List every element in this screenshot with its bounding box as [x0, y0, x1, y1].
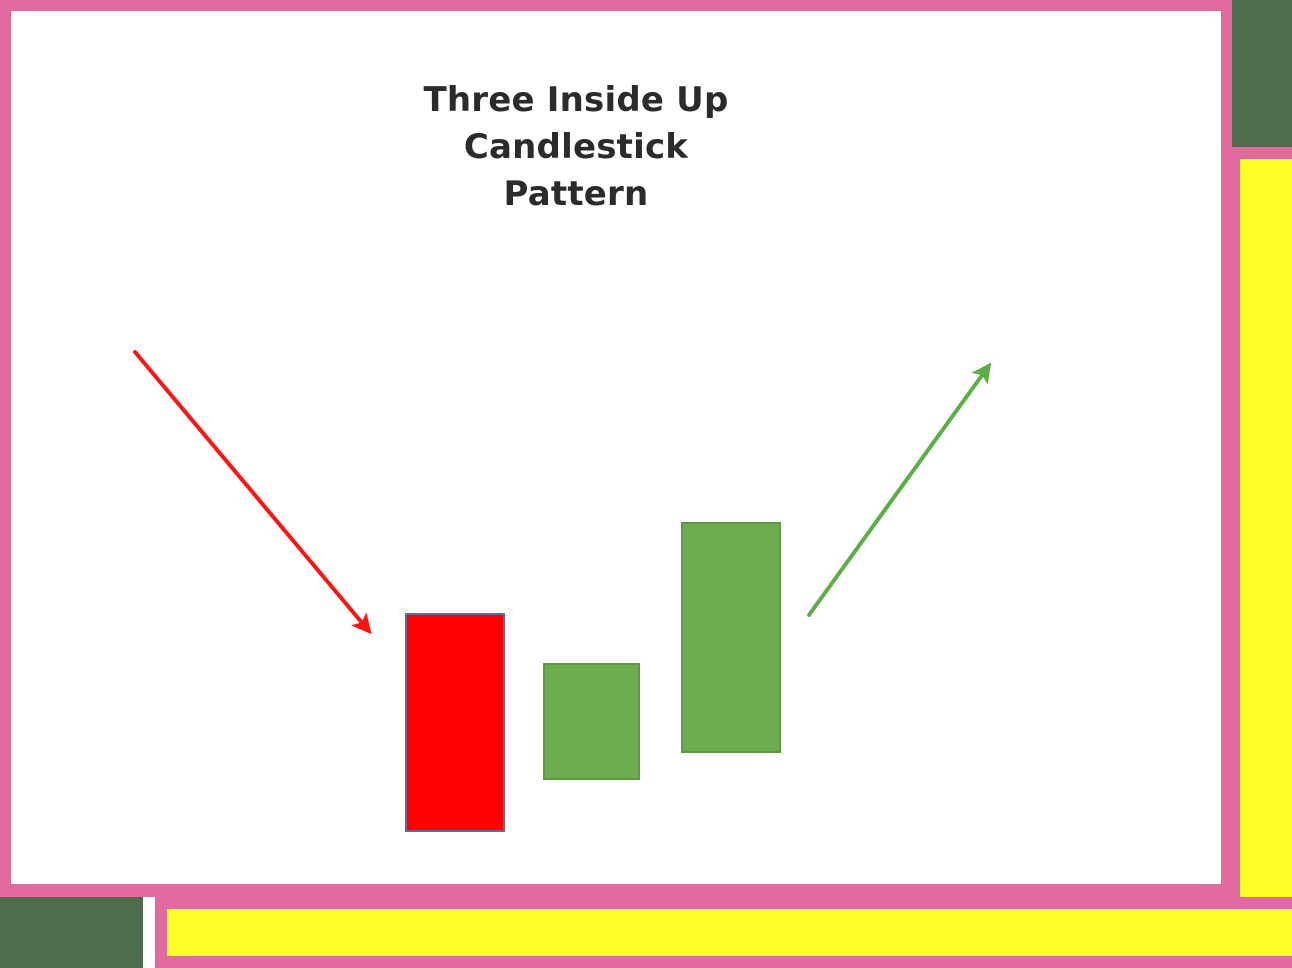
candle-body-1 — [405, 613, 505, 832]
decor-yellow-panel-right — [1228, 147, 1292, 968]
decor-yellow-panel-bottom — [155, 897, 1292, 968]
pink-card-frame: Three Inside Up Candlestick Pattern — [0, 0, 1232, 897]
decor-green-block-topright — [1231, 0, 1292, 147]
page-title: Three Inside Up Candlestick Pattern — [11, 77, 1141, 218]
uptrend-arrow — [809, 367, 988, 615]
illustration-card: Three Inside Up Candlestick Pattern — [11, 11, 1221, 884]
candle-body-3 — [681, 522, 781, 753]
downtrend-arrow — [135, 352, 368, 630]
candle-body-2 — [543, 663, 640, 780]
decor-green-block-bottomleft — [0, 897, 143, 968]
page-title-line-3: Pattern — [11, 171, 1141, 218]
screenshot-canvas: Three Inside Up Candlestick Pattern — [0, 0, 1292, 968]
page-title-line-1: Three Inside Up — [11, 77, 1141, 124]
page-title-line-2: Candlestick — [11, 124, 1141, 171]
